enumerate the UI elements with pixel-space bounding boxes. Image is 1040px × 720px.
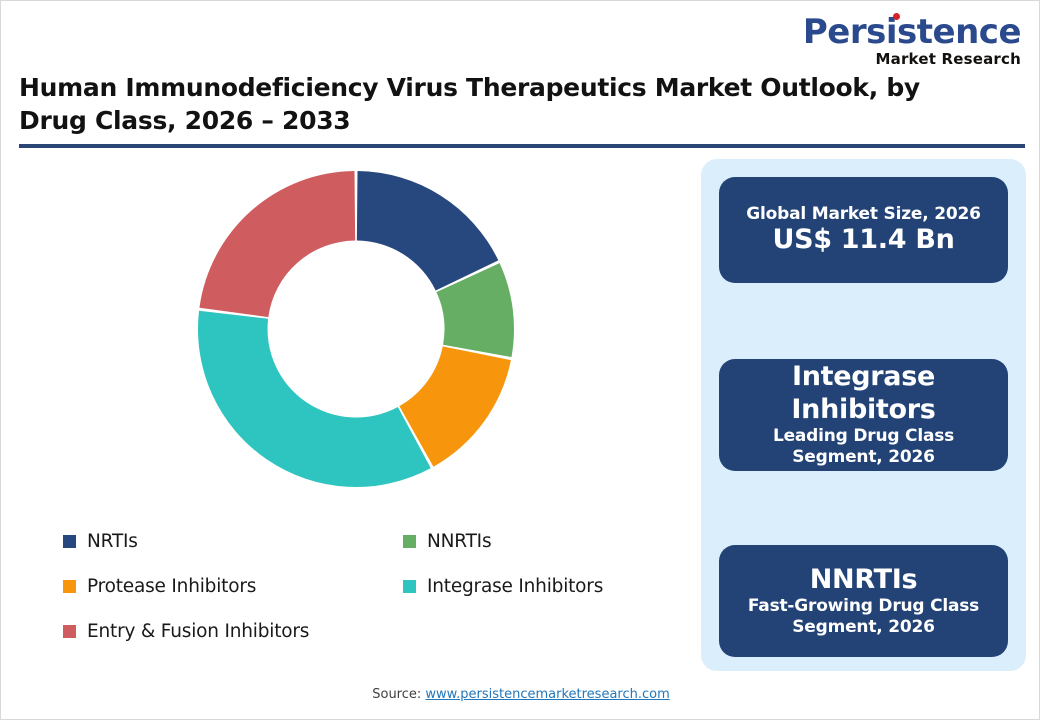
stat-card-value: US$ 11.4 Bn [719,224,1008,256]
legend-label: NNRTIs [427,531,491,552]
legend-row: Protease Inhibitors Integrase Inhibitors [63,564,703,609]
title-divider [19,144,1025,148]
logo-name-text: Persistence [803,12,1021,52]
source-footer: Source: www.persistencemarketresearch.co… [1,687,1040,702]
brand-logo: Persistence Market Research [803,15,1021,67]
stat-card-value: NNRTIs [719,564,1008,596]
legend-item-protease-inhibitors[interactable]: Protease Inhibitors [63,576,403,597]
logo-tagline: Market Research [803,52,1021,67]
stat-card-subtitle-line1: Fast-Growing Drug Class [719,596,1008,617]
stat-card-fastest-growing-segment: NNRTIs Fast-Growing Drug Class Segment, … [719,545,1008,657]
legend-label: Integrase Inhibitors [427,576,603,597]
legend-swatch-icon [63,580,76,593]
legend-item-nrtis[interactable]: NRTIs [63,531,403,552]
infographic-page: Persistence Market Research Human Immuno… [0,0,1040,720]
legend-row: Entry & Fusion Inhibitors [63,609,703,654]
legend-row: NRTIs NNRTIs [63,519,703,564]
legend-swatch-icon [403,580,416,593]
legend-item-integrase-inhibitors[interactable]: Integrase Inhibitors [403,576,603,597]
chart-area [21,159,681,509]
legend-swatch-icon [403,535,416,548]
legend-item-nnrtis[interactable]: NNRTIs [403,531,491,552]
donut-chart-svg [196,169,516,489]
stat-card-market-size: Global Market Size, 2026 US$ 11.4 Bn [719,177,1008,283]
highlights-panel: Global Market Size, 2026 US$ 11.4 Bn Int… [701,159,1026,671]
stat-card-subtitle-line2: Segment, 2026 [719,447,1008,468]
stat-card-leading-segment: Integrase Inhibitors Leading Drug Class … [719,359,1008,471]
donut-slice[interactable] [198,311,431,487]
donut-chart [196,169,516,489]
donut-slice[interactable] [199,171,355,317]
legend-label: NRTIs [87,531,138,552]
source-link[interactable]: www.persistencemarketresearch.com [425,687,669,702]
stat-card-kicker: Global Market Size, 2026 [719,204,1008,224]
legend-label: Protease Inhibitors [87,576,256,597]
logo-wordmark: Persistence [803,15,1021,49]
logo-red-dot-icon [893,13,900,20]
chart-legend: NRTIs NNRTIs Protease Inhibitors Integra… [63,519,703,654]
stat-card-subtitle-line2: Segment, 2026 [719,617,1008,638]
donut-slice[interactable] [357,171,498,291]
stat-card-value: Integrase Inhibitors [719,361,1008,426]
page-title: Human Immunodeficiency Virus Therapeutic… [19,71,979,137]
legend-label: Entry & Fusion Inhibitors [87,621,309,642]
legend-swatch-icon [63,625,76,638]
legend-swatch-icon [63,535,76,548]
stat-card-subtitle-line1: Leading Drug Class [719,426,1008,447]
page-title-text: Human Immunodeficiency Virus Therapeutic… [19,71,979,137]
legend-item-entry-fusion-inhibitors[interactable]: Entry & Fusion Inhibitors [63,621,403,642]
source-label: Source: [372,687,425,702]
